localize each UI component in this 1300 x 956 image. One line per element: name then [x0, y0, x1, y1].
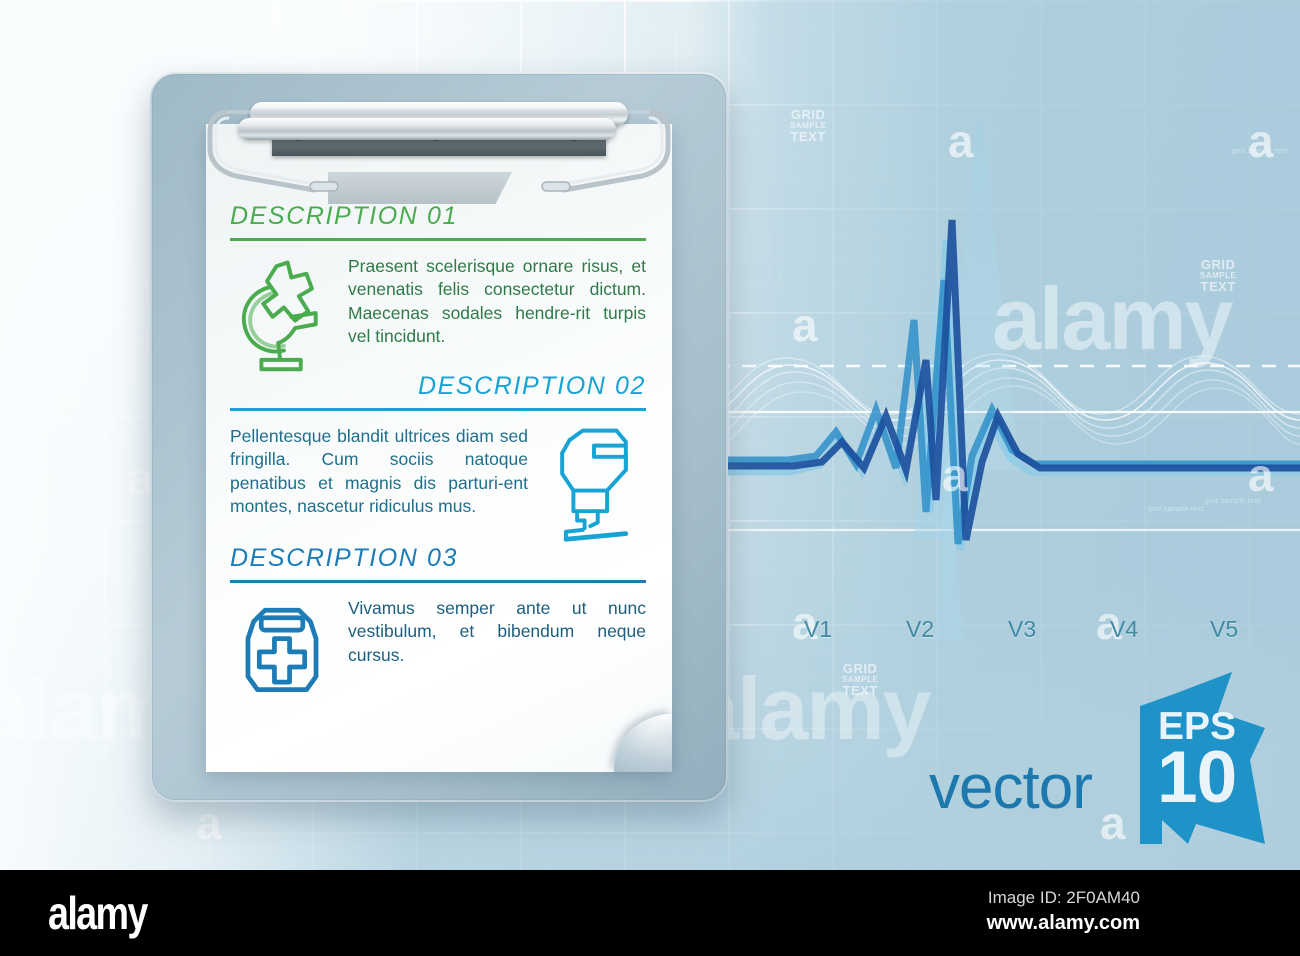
- first-aid-kit-icon: [230, 597, 334, 701]
- footer-logo: alamy: [48, 886, 147, 940]
- section-description-03: DESCRIPTION 03 Vivamus semper ante ut nu…: [230, 544, 646, 701]
- eps-version: 10: [1157, 741, 1236, 814]
- iv-drip-bag-icon: [542, 425, 646, 543]
- axis-label-v2: V2: [906, 616, 934, 643]
- clipboard: DESCRIPTION 01 Praesent scelerisqu: [150, 72, 728, 802]
- vector-eps-badge: vector EPS 10: [925, 672, 1265, 852]
- clip-wire: [206, 98, 672, 208]
- ecg-chart: [690, 120, 1300, 640]
- section-title: DESCRIPTION 03: [230, 544, 646, 573]
- section-row: Vivamus semper ante ut nunc vestibulum, …: [230, 597, 646, 701]
- section-body: Pellentesque blandit ultrices diam sed f…: [230, 425, 528, 518]
- paper-sheet: DESCRIPTION 01 Praesent scelerisqu: [206, 124, 672, 772]
- watermark-letter: a: [792, 302, 818, 348]
- section-body: Praesent scelerisque ornare risus, et ve…: [348, 255, 646, 348]
- ecg-svg: [690, 120, 1300, 640]
- vector-word: vector: [929, 752, 1092, 823]
- axis-label-v3: V3: [1008, 616, 1036, 643]
- page-curl: [614, 714, 672, 772]
- section-description-02: DESCRIPTION 02 Pellentesque blandit ultr…: [230, 372, 646, 543]
- section-description-01: DESCRIPTION 01 Praesent scelerisqu: [230, 202, 646, 373]
- axis-label-v4: V4: [1110, 616, 1138, 643]
- watermark-letter: a: [1248, 118, 1274, 164]
- watermark-letter: a: [1248, 452, 1274, 498]
- mortar-pestle-cross-icon: [230, 255, 334, 373]
- section-row: Praesent scelerisque ornare risus, et ve…: [230, 255, 646, 373]
- section-rule: [230, 408, 646, 411]
- watermark-letter: a: [948, 118, 974, 164]
- section-body: Vivamus semper ante ut nunc vestibulum, …: [348, 597, 646, 667]
- axis-label-v1: V1: [804, 616, 832, 643]
- section-rule: [230, 238, 646, 241]
- footer-url: www.alamy.com: [987, 912, 1140, 935]
- section-title: DESCRIPTION 02: [230, 372, 646, 401]
- poster-canvas: GRID SAMPLE TEXT GRID SAMPLE TEXT GRID S…: [0, 0, 1300, 956]
- watermark-letter: a: [942, 452, 968, 498]
- alamy-footer: alamy Image ID: 2F0AM40 www.alamy.com: [0, 870, 1300, 956]
- metal-clip[interactable]: [206, 82, 672, 202]
- axis-label-v5: V5: [1210, 616, 1238, 643]
- watermark-word: alamy: [992, 268, 1232, 370]
- section-row: Pellentesque blandit ultrices diam sed f…: [230, 425, 646, 543]
- footer-image-id: Image ID: 2F0AM40: [988, 888, 1140, 908]
- section-rule: [230, 580, 646, 583]
- ecg-axis-labels: V1 V2 V3 V4 V5: [780, 616, 1280, 650]
- watermark-letter: a: [196, 800, 222, 846]
